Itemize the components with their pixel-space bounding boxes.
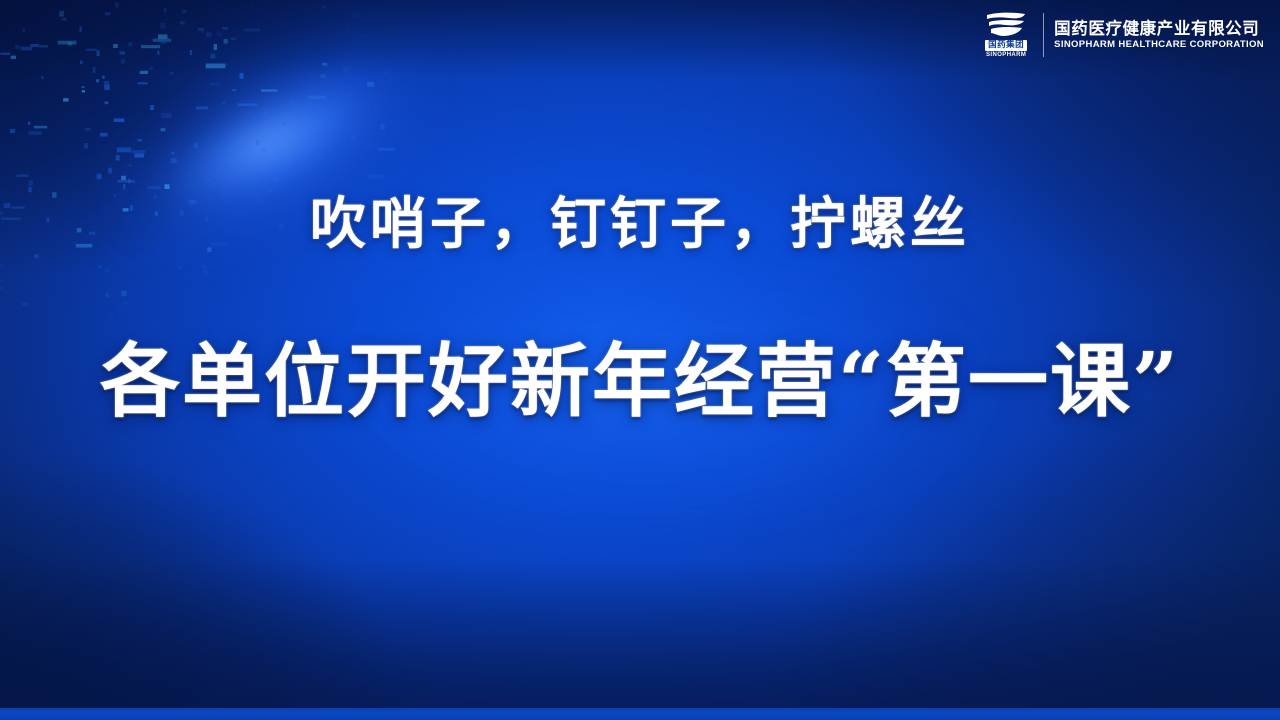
slide-subtitle: 吹哨子，钉钉子，拧螺丝: [0, 196, 1280, 255]
company-name-cn: 国药医疗健康产业有限公司: [1054, 21, 1264, 38]
slide-main-title: 各单位开好新年经营“第一课”: [0, 339, 1280, 423]
sinopharm-emblem-glyph: [983, 12, 1029, 38]
company-name-en: SINOPHARM HEALTHCARE CORPORATION: [1054, 40, 1264, 50]
sinopharm-emblem-icon: 国药集团 SINOPHARM: [979, 12, 1033, 58]
presentation-slide: 国药集团 SINOPHARM 国药医疗健康产业有限公司 SINOPHARM HE…: [0, 0, 1280, 720]
background-bottom-shade: [0, 558, 1280, 708]
slide-title-block: 吹哨子，钉钉子，拧螺丝 各单位开好新年经营“第一课”: [0, 196, 1280, 423]
brand-logo-lockup: 国药集团 SINOPHARM 国药医疗健康产业有限公司 SINOPHARM HE…: [979, 8, 1264, 62]
emblem-chinese-label: 国药集团: [985, 40, 1027, 51]
bottom-accent-band: [0, 708, 1280, 720]
logo-divider: [1043, 13, 1044, 57]
brand-name-block: 国药医疗健康产业有限公司 SINOPHARM HEALTHCARE CORPOR…: [1054, 21, 1264, 50]
emblem-english-label: SINOPHARM: [986, 52, 1026, 58]
